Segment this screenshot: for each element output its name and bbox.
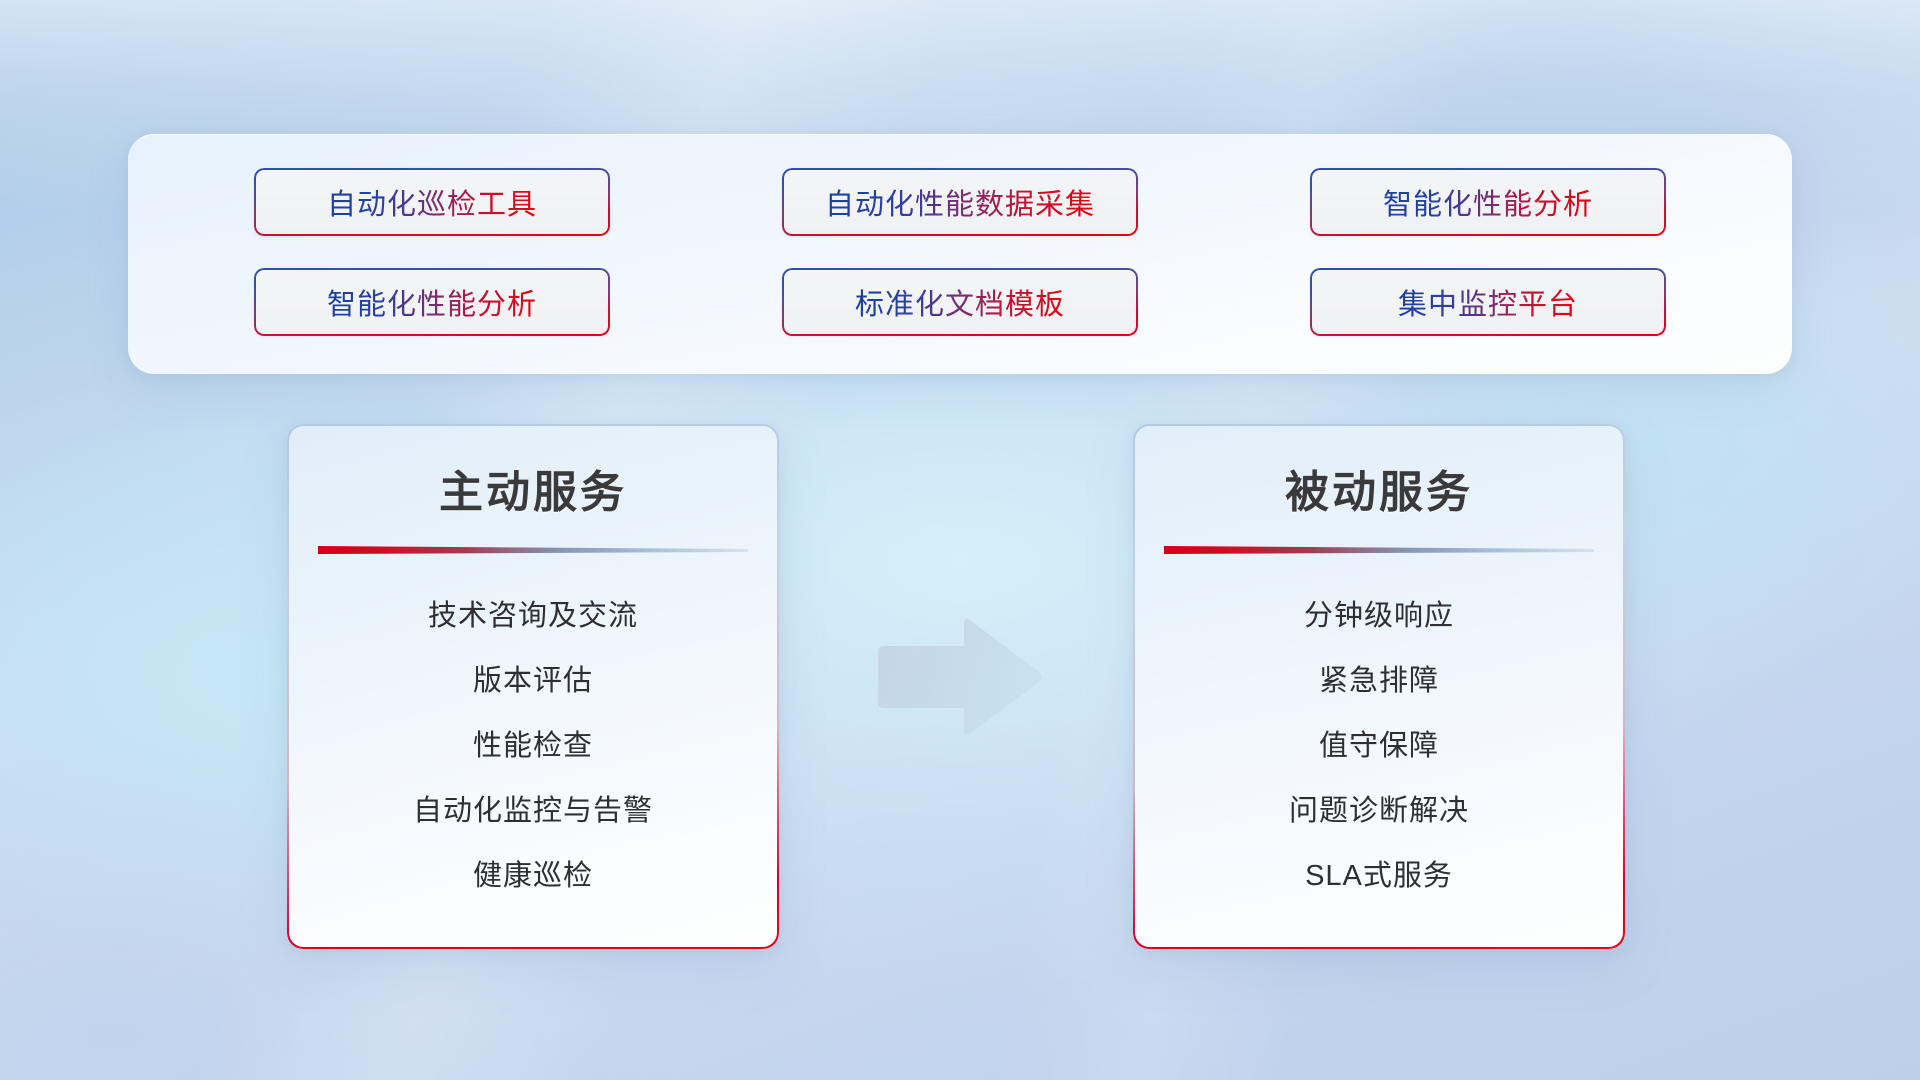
tag-cell-2: 自动化性能数据采集	[696, 168, 1224, 236]
tag-cell-1: 自动化巡检工具	[168, 168, 696, 236]
service-card-proactive[interactable]: 主动服务 技术咨询及交流 版本评估 性能检查	[287, 424, 779, 949]
list-item: 紧急排障	[1133, 649, 1625, 714]
arrow-right-icon	[868, 612, 1048, 742]
list-item: SLA式服务	[1133, 844, 1625, 909]
capability-tag-standardized-document-template[interactable]: 标准化文档模板	[782, 268, 1138, 336]
tag-cell-6: 集中监控平台	[1224, 268, 1752, 336]
list-item: 健康巡检	[287, 844, 779, 909]
capability-tag-label: 标准化文档模板	[855, 281, 1065, 323]
list-item: 问题诊断解决	[1133, 779, 1625, 844]
tag-cell-4: 智能化性能分析	[168, 268, 696, 336]
capability-tag-centralized-monitoring-platform[interactable]: 集中监控平台	[1310, 268, 1666, 336]
tag-cell-3: 智能化性能分析	[1224, 168, 1752, 236]
list-item: 版本评估	[287, 649, 779, 714]
list-item: 自动化监控与告警	[287, 779, 779, 844]
tag-cell-5: 标准化文档模板	[696, 268, 1224, 336]
capability-tag-automated-inspection-tool[interactable]: 自动化巡检工具	[254, 168, 610, 236]
capability-tags-panel: 自动化巡检工具 自动化性能数据采集 智能化性能分析 智能化性能分析	[128, 134, 1792, 374]
service-card-item-list: 技术咨询及交流 版本评估 性能检查 自动化监控与告警 健康巡检	[287, 556, 779, 909]
capability-tag-label: 自动化性能数据采集	[825, 181, 1095, 223]
capability-tag-label: 智能化性能分析	[1383, 181, 1593, 223]
capability-tag-grid: 自动化巡检工具 自动化性能数据采集 智能化性能分析 智能化性能分析	[128, 134, 1792, 374]
list-item: 值守保障	[1133, 714, 1625, 779]
slide-canvas: 自动化巡检工具 自动化性能数据采集 智能化性能分析 智能化性能分析	[0, 0, 1920, 1080]
capability-tag-intelligent-performance-analysis-b[interactable]: 智能化性能分析	[254, 268, 610, 336]
card-title-divider	[318, 544, 748, 556]
service-card-title: 被动服务	[1133, 424, 1625, 520]
capability-tag-label: 智能化性能分析	[327, 281, 537, 323]
list-item: 性能检查	[287, 714, 779, 779]
capability-tag-label: 自动化巡检工具	[327, 181, 537, 223]
service-card-reactive[interactable]: 被动服务 分钟级响应 紧急排障 值守保障	[1133, 424, 1625, 949]
service-card-item-list: 分钟级响应 紧急排障 值守保障 问题诊断解决 SLA式服务	[1133, 556, 1625, 909]
capability-tag-label: 集中监控平台	[1398, 281, 1578, 323]
list-item: 分钟级响应	[1133, 584, 1625, 649]
service-card-title: 主动服务	[287, 424, 779, 520]
capability-tag-intelligent-performance-analysis-a[interactable]: 智能化性能分析	[1310, 168, 1666, 236]
list-item: 技术咨询及交流	[287, 584, 779, 649]
capability-tag-automated-performance-data-collection[interactable]: 自动化性能数据采集	[782, 168, 1138, 236]
card-title-divider	[1164, 544, 1594, 556]
